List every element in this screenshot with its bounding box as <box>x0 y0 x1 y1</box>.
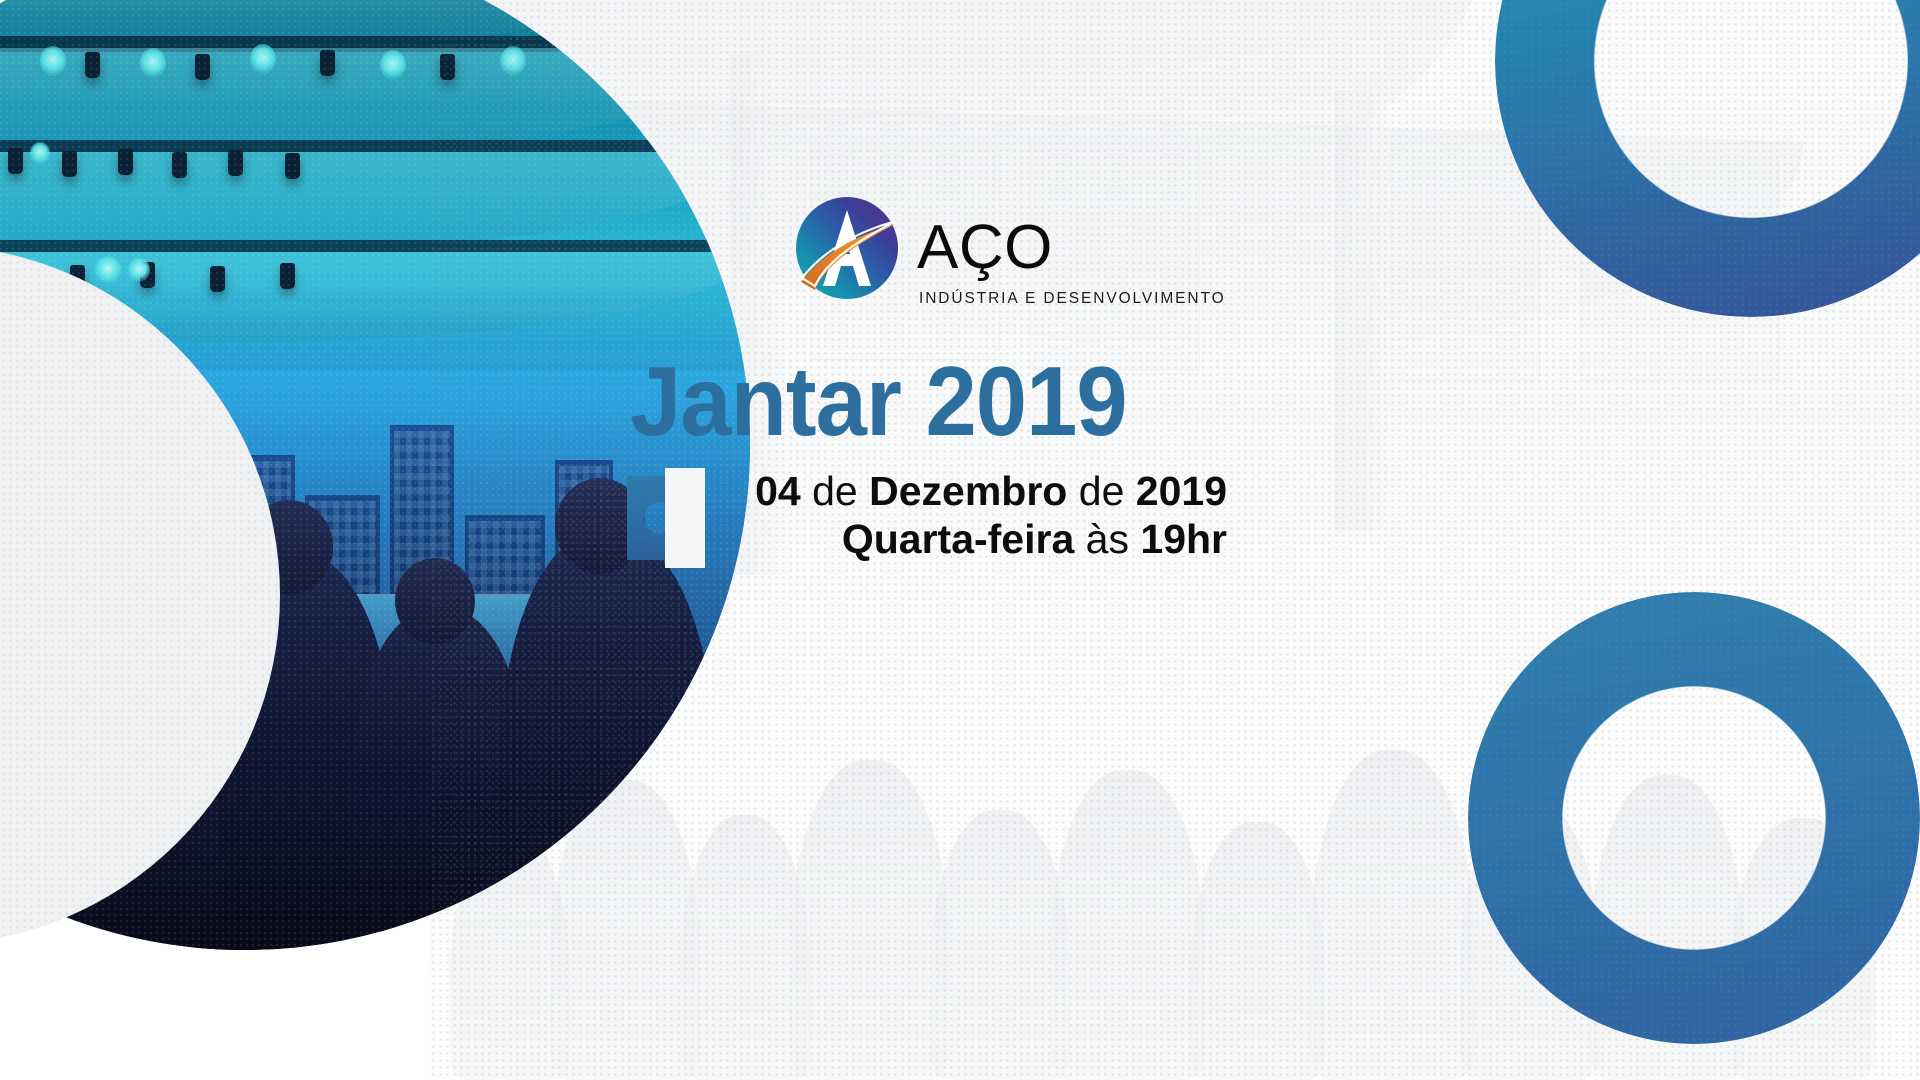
event-day: 04 <box>755 468 801 514</box>
event-date-line-1: 04 de Dezembro de 2019 <box>697 468 1227 516</box>
banner-canvas: AÇO INDÚSTRIA E DESENVOLVIMENTO Jantar 2… <box>0 0 1920 1080</box>
aco-circle-a-swoosh-logo-icon <box>795 196 899 300</box>
event-connector-1: de <box>812 468 858 514</box>
brand-wordmark: AÇO <box>917 217 1053 279</box>
event-weekday: Quarta-feira <box>842 516 1074 562</box>
event-connector-2: de <box>1079 468 1125 514</box>
blue-ring-icon <box>1468 592 1920 1044</box>
event-month: Dezembro <box>869 468 1067 514</box>
event-date-block: 04 de Dezembro de 2019 Quarta-feira às 1… <box>627 468 1227 578</box>
event-date-line-2: Quarta-feira às 19hr <box>697 516 1227 564</box>
brand-tagline: INDÚSTRIA E DESENVOLVIMENTO <box>919 290 1226 308</box>
event-time-connector: às <box>1086 516 1129 562</box>
brand-logo: AÇO INDÚSTRIA E DESENVOLVIMENTO <box>795 196 1265 316</box>
event-time: 19hr <box>1140 516 1227 562</box>
event-year: 2019 <box>1136 468 1227 514</box>
page-title: Jantar 2019 <box>630 352 1194 457</box>
event-date-text: 04 de Dezembro de 2019 Quarta-feira às 1… <box>697 468 1227 564</box>
